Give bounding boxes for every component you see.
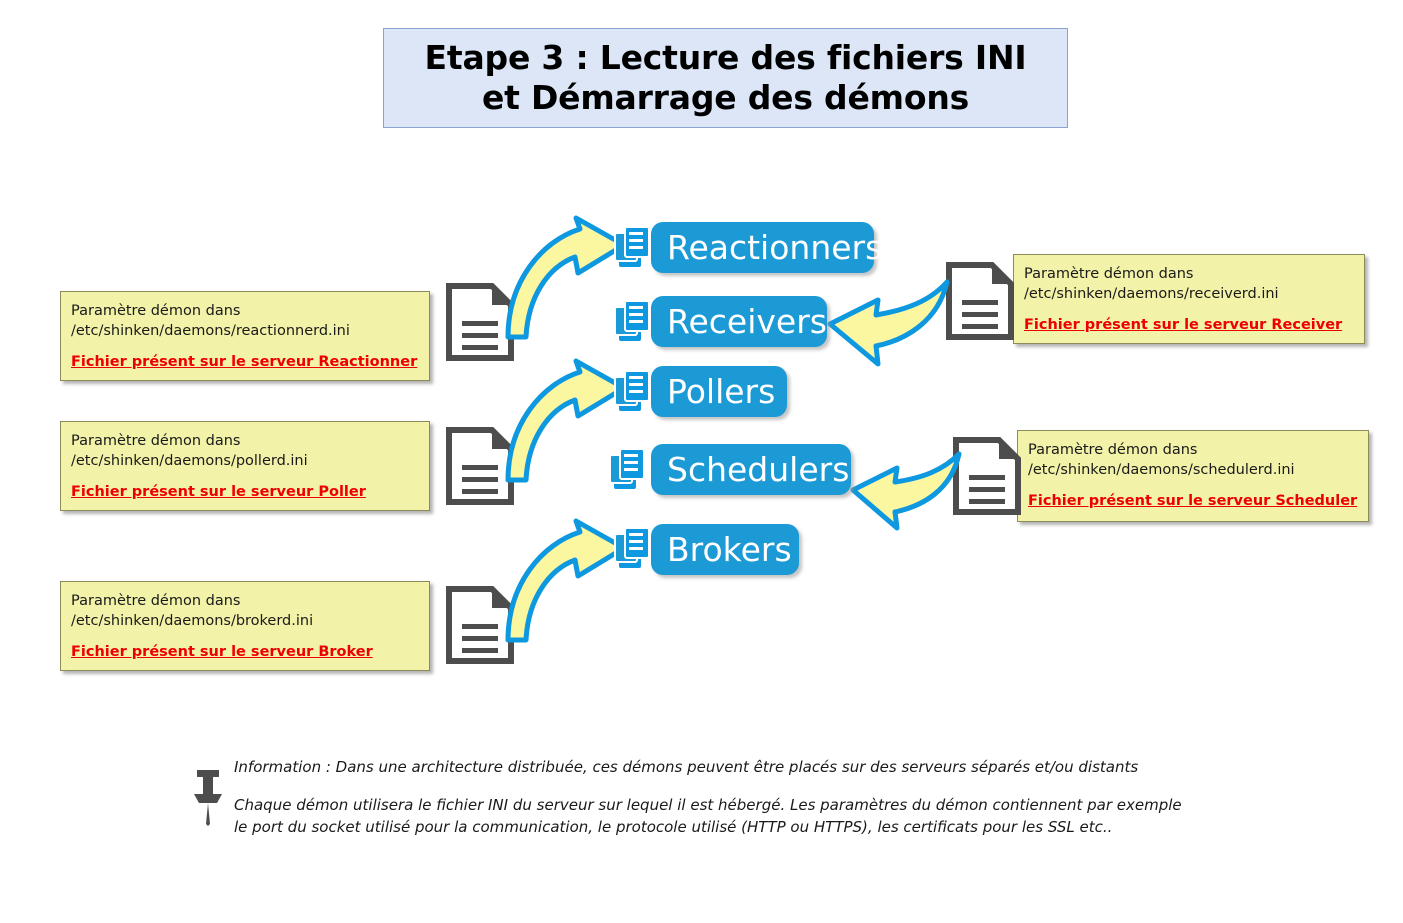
- daemon-box-schedulers[interactable]: Schedulers: [651, 444, 851, 495]
- note-body: Paramètre démon dans /etc/shinken/daemon…: [1024, 264, 1356, 304]
- daemon-label: Pollers: [667, 375, 775, 408]
- server-stack-icon-receiver: [613, 301, 653, 345]
- note-emphasis: Fichier présent sur le serveur Receiver: [1024, 316, 1356, 335]
- server-stack-icon-reactionner: [613, 227, 653, 271]
- arrow-scheduler: [845, 450, 975, 540]
- note-body: Paramètre démon dans /etc/shinken/daemon…: [71, 431, 421, 471]
- daemon-box-pollers[interactable]: Pollers: [651, 366, 787, 417]
- note-right-receiver: Paramètre démon dans /etc/shinken/daemon…: [1013, 254, 1365, 344]
- note-left-reactionner: Paramètre démon dans /etc/shinken/daemon…: [60, 291, 430, 381]
- daemon-box-reactionners[interactable]: Reactionners: [651, 222, 874, 273]
- server-stack-icon-broker: [613, 528, 653, 572]
- note-emphasis: Fichier présent sur le serveur Reactionn…: [71, 353, 421, 372]
- note-body: Paramètre démon dans /etc/shinken/daemon…: [1028, 440, 1360, 480]
- footer-information-text: Information : Dans une architecture dist…: [234, 757, 1294, 779]
- diagram-canvas: Etape 3 : Lecture des fichiers INI et Dé…: [0, 0, 1403, 923]
- note-emphasis: Fichier présent sur le serveur Scheduler: [1028, 492, 1360, 511]
- daemon-label: Receivers: [667, 305, 827, 338]
- daemon-label: Brokers: [667, 533, 792, 566]
- note-left-poller: Paramètre démon dans /etc/shinken/daemon…: [60, 421, 430, 511]
- daemon-box-receivers[interactable]: Receivers: [651, 296, 827, 347]
- note-emphasis: Fichier présent sur le serveur Poller: [71, 483, 421, 502]
- daemon-label: Reactionners: [667, 231, 882, 264]
- note-left-broker: Paramètre démon dans /etc/shinken/daemon…: [60, 581, 430, 671]
- note-body: Paramètre démon dans /etc/shinken/daemon…: [71, 301, 421, 341]
- pushpin-icon: [190, 768, 226, 826]
- arrow-receiver: [820, 276, 965, 376]
- server-stack-icon-scheduler: [608, 449, 648, 493]
- daemon-box-brokers[interactable]: Brokers: [651, 524, 799, 575]
- note-body: Paramètre démon dans /etc/shinken/daemon…: [71, 591, 421, 631]
- page-title-box: Etape 3 : Lecture des fichiers INI et Dé…: [383, 28, 1068, 128]
- note-emphasis: Fichier présent sur le serveur Broker: [71, 643, 421, 662]
- footer-detail-text: Chaque démon utilisera le fichier INI du…: [234, 795, 1294, 839]
- note-right-scheduler: Paramètre démon dans /etc/shinken/daemon…: [1017, 430, 1369, 522]
- page-title: Etape 3 : Lecture des fichiers INI et Dé…: [415, 38, 1037, 119]
- daemon-label: Schedulers: [667, 453, 849, 486]
- server-stack-icon-poller: [613, 371, 653, 415]
